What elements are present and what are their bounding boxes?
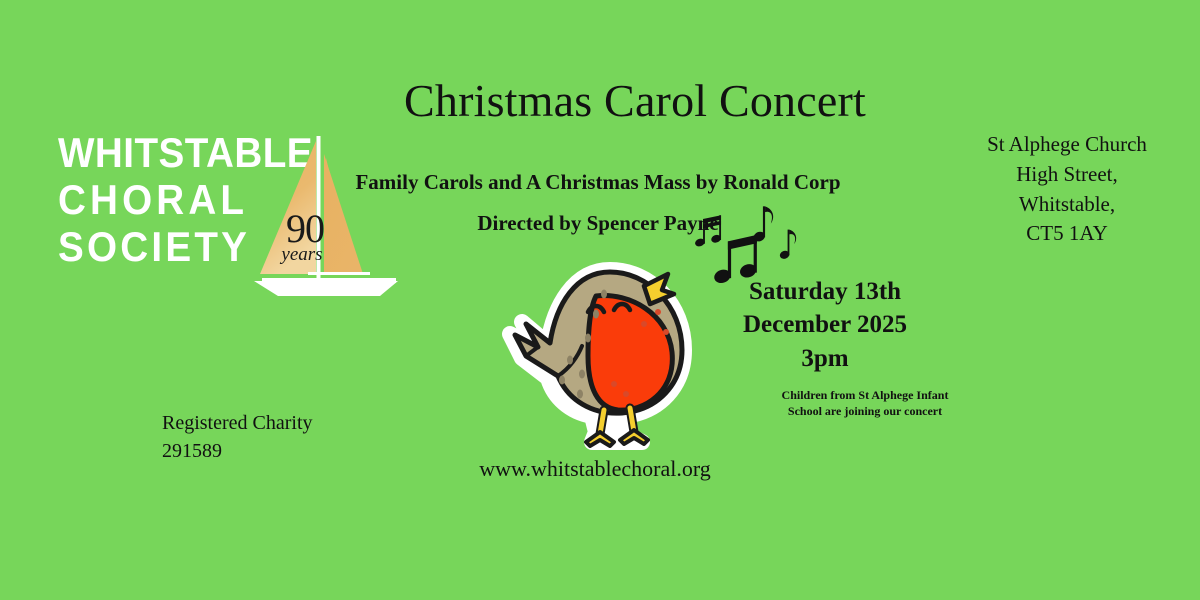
robin-bird-icon [492, 252, 712, 457]
logo-line-whitstable: WHITSTABLE [58, 132, 251, 173]
event-date-day: Saturday 13th [715, 275, 935, 308]
page-title-text: Christmas Carol Concert [404, 74, 866, 127]
schools-note-line-2: School are joining our concert [760, 404, 970, 420]
venue-street: High Street, [962, 160, 1172, 190]
programme-works: Family Carols and A Christmas Mass by Ro… [355, 170, 840, 195]
event-date-month-year: December 2025 [715, 308, 935, 341]
venue-postcode: CT5 1AY [962, 219, 1172, 249]
venue-address: St Alphege Church High Street, Whitstabl… [962, 130, 1172, 249]
venue-name: St Alphege Church [962, 130, 1172, 160]
event-poster: WHITSTABLE CHORAL SOCIETY [0, 0, 1200, 600]
event-time: 3pm [715, 342, 935, 375]
page-title: Christmas Carol Concert [0, 74, 1200, 127]
event-date: Saturday 13th December 2025 3pm [715, 275, 935, 375]
schools-note-line-1: Children from St Alphege Infant [760, 388, 970, 404]
website-url[interactable]: www.whitstablechoral.org [0, 456, 1200, 482]
website-url-text[interactable]: www.whitstablechoral.org [479, 456, 711, 482]
charity-label: Registered Charity [162, 410, 313, 438]
venue-town: Whitstable, [962, 190, 1172, 220]
schools-note: Children from St Alphege Infant School a… [760, 388, 970, 420]
